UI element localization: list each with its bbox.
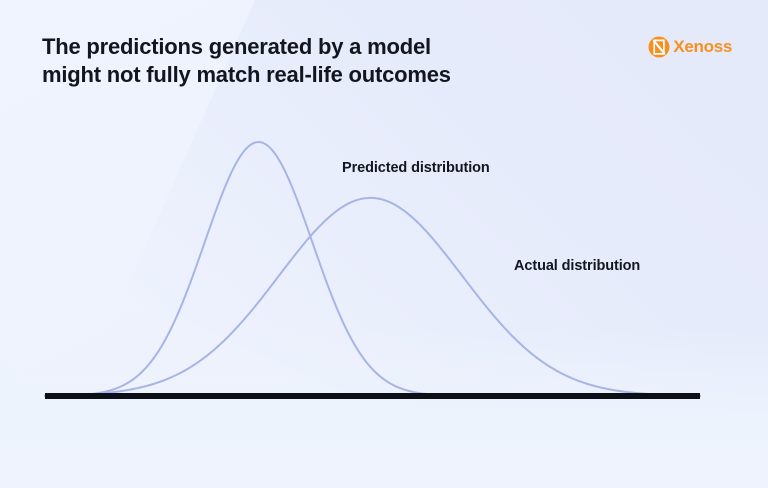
xenoss-circle-x-icon — [648, 36, 670, 58]
curve-label-predicted: Predicted distribution — [342, 160, 490, 176]
curve-label-actual: Actual distribution — [514, 258, 640, 274]
page-title-line-2: might not fully match real-life outcomes — [42, 61, 562, 89]
brand-logo-wordmark: Xenoss — [673, 37, 732, 57]
slide-canvas: The predictions generated by a model mig… — [0, 0, 768, 488]
page-title-line-1: The predictions generated by a model — [42, 33, 562, 61]
brand-logo[interactable]: Xenoss — [648, 36, 732, 58]
curve-actual-distribution — [45, 198, 700, 396]
page-title: The predictions generated by a model mig… — [42, 33, 562, 89]
